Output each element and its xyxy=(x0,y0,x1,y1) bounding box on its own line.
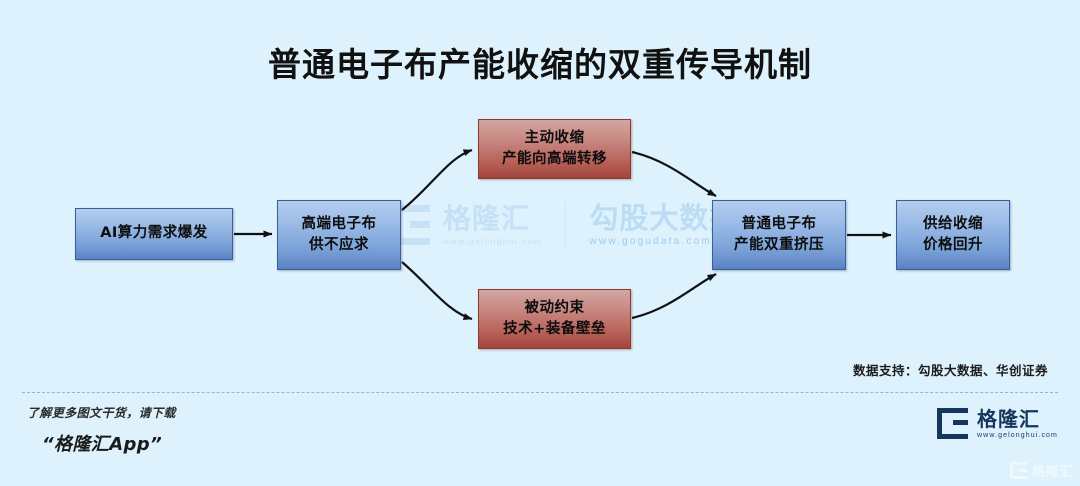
node-line: 供给收缩 xyxy=(923,214,983,235)
corner-watermark: 格隆汇 xyxy=(1010,461,1074,480)
flow-node-price-recovery[interactable]: 供给收缩 价格回升 xyxy=(896,200,1010,270)
flow-node-active-contraction[interactable]: 主动收缩 产能向高端转移 xyxy=(478,119,631,179)
watermark-gelonghui: 格隆汇 www.gelonghui.com xyxy=(443,204,542,245)
footer-promo-line1: 了解更多图文干货，请下载 xyxy=(27,404,176,421)
corner-watermark-label: 格隆汇 xyxy=(1032,461,1074,480)
node-line: 产能向高端转移 xyxy=(502,149,607,170)
watermark-divider xyxy=(565,202,566,248)
node-line: AI算力需求爆发 xyxy=(100,223,208,244)
footer-promo: 了解更多图文干货，请下载 “格隆汇App” xyxy=(27,404,176,456)
node-line: 产能双重挤压 xyxy=(734,235,824,256)
gelonghui-logo-icon xyxy=(937,408,968,439)
flow-node-highend-supply[interactable]: 高端电子布 供不应求 xyxy=(277,200,401,270)
footer-brand-logo: 格隆汇 www.gelonghui.com xyxy=(937,408,1058,439)
flow-node-ordinary-squeeze[interactable]: 普通电子布 产能双重挤压 xyxy=(712,200,846,270)
node-line: 价格回升 xyxy=(923,235,983,256)
edge-n3-n5 xyxy=(632,152,716,196)
edge-n4-n5 xyxy=(632,274,716,318)
gelonghui-logo-icon xyxy=(1010,462,1027,479)
footer-app-name: “格隆汇App” xyxy=(42,430,176,456)
node-line: 高端电子布 xyxy=(302,214,377,235)
footer-divider xyxy=(22,392,1058,393)
node-line: 供不应求 xyxy=(309,235,369,256)
footer-logo-url: www.gelonghui.com xyxy=(977,432,1058,439)
source-note: 数据支持：勾股大数据、华创证券 xyxy=(853,360,1048,379)
node-line: 主动收缩 xyxy=(525,128,585,149)
footer-logo-name: 格隆汇 xyxy=(977,409,1058,429)
flow-node-passive-constraint[interactable]: 被动约束 技术+装备壁垒 xyxy=(478,289,631,349)
node-line: 技术+装备壁垒 xyxy=(503,319,606,340)
node-line: 普通电子布 xyxy=(742,214,817,235)
watermark-brand-url: www.gelonghui.com xyxy=(443,236,542,246)
node-line: 被动约束 xyxy=(525,298,585,319)
edge-n2-n3 xyxy=(402,150,472,210)
page-title: 普通电子布产能收缩的双重传导机制 xyxy=(0,38,1080,86)
edge-n2-n4 xyxy=(402,262,472,319)
watermark-brand-name: 格隆汇 xyxy=(443,204,542,233)
flow-node-ai-demand[interactable]: AI算力需求爆发 xyxy=(75,208,233,260)
infographic-canvas: 普通电子布产能收缩的双重传导机制 格隆汇 www.gelonghui.com 勾… xyxy=(0,0,1080,486)
center-watermark: 格隆汇 www.gelonghui.com 勾股大数据 www.gogudata… xyxy=(390,193,710,257)
